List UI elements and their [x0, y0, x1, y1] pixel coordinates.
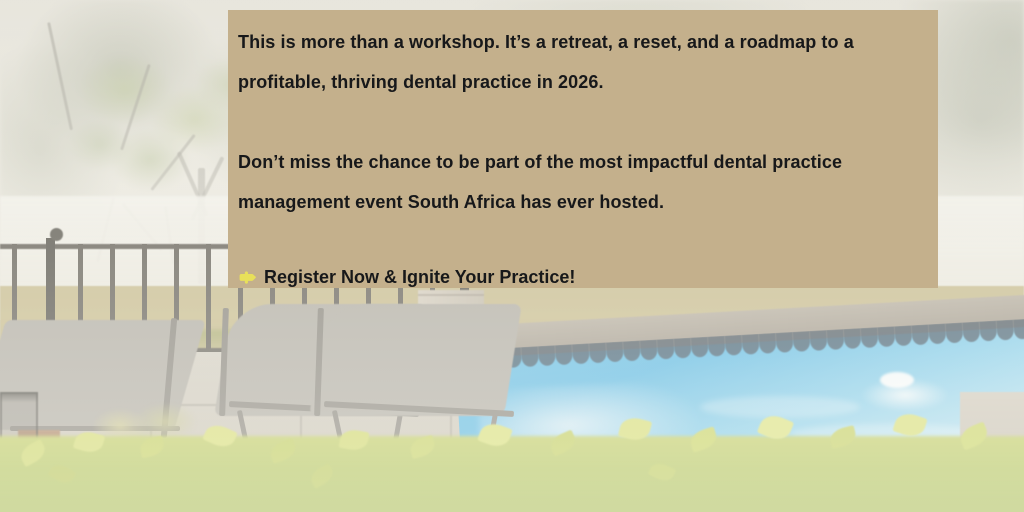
screenshot-canvas: This is more than a workshop. It’s a ret…: [0, 0, 1024, 512]
pool-floating-object: [880, 372, 914, 388]
pointing-hand-right-icon: [238, 268, 257, 287]
promo-text-panel: This is more than a workshop. It’s a ret…: [228, 10, 938, 288]
paragraph-urgency: Don’t miss the chance to be part of the …: [238, 142, 924, 222]
fence-post-cap: [50, 228, 63, 241]
lounger-fabric: [309, 304, 522, 416]
foreground-hedge: [0, 408, 1024, 512]
paragraph-intro: This is more than a workshop. It’s a ret…: [238, 22, 924, 102]
cta-line[interactable]: Register Now & Ignite Your Practice!: [238, 265, 924, 289]
cta-label: Register Now & Ignite Your Practice!: [264, 265, 575, 289]
